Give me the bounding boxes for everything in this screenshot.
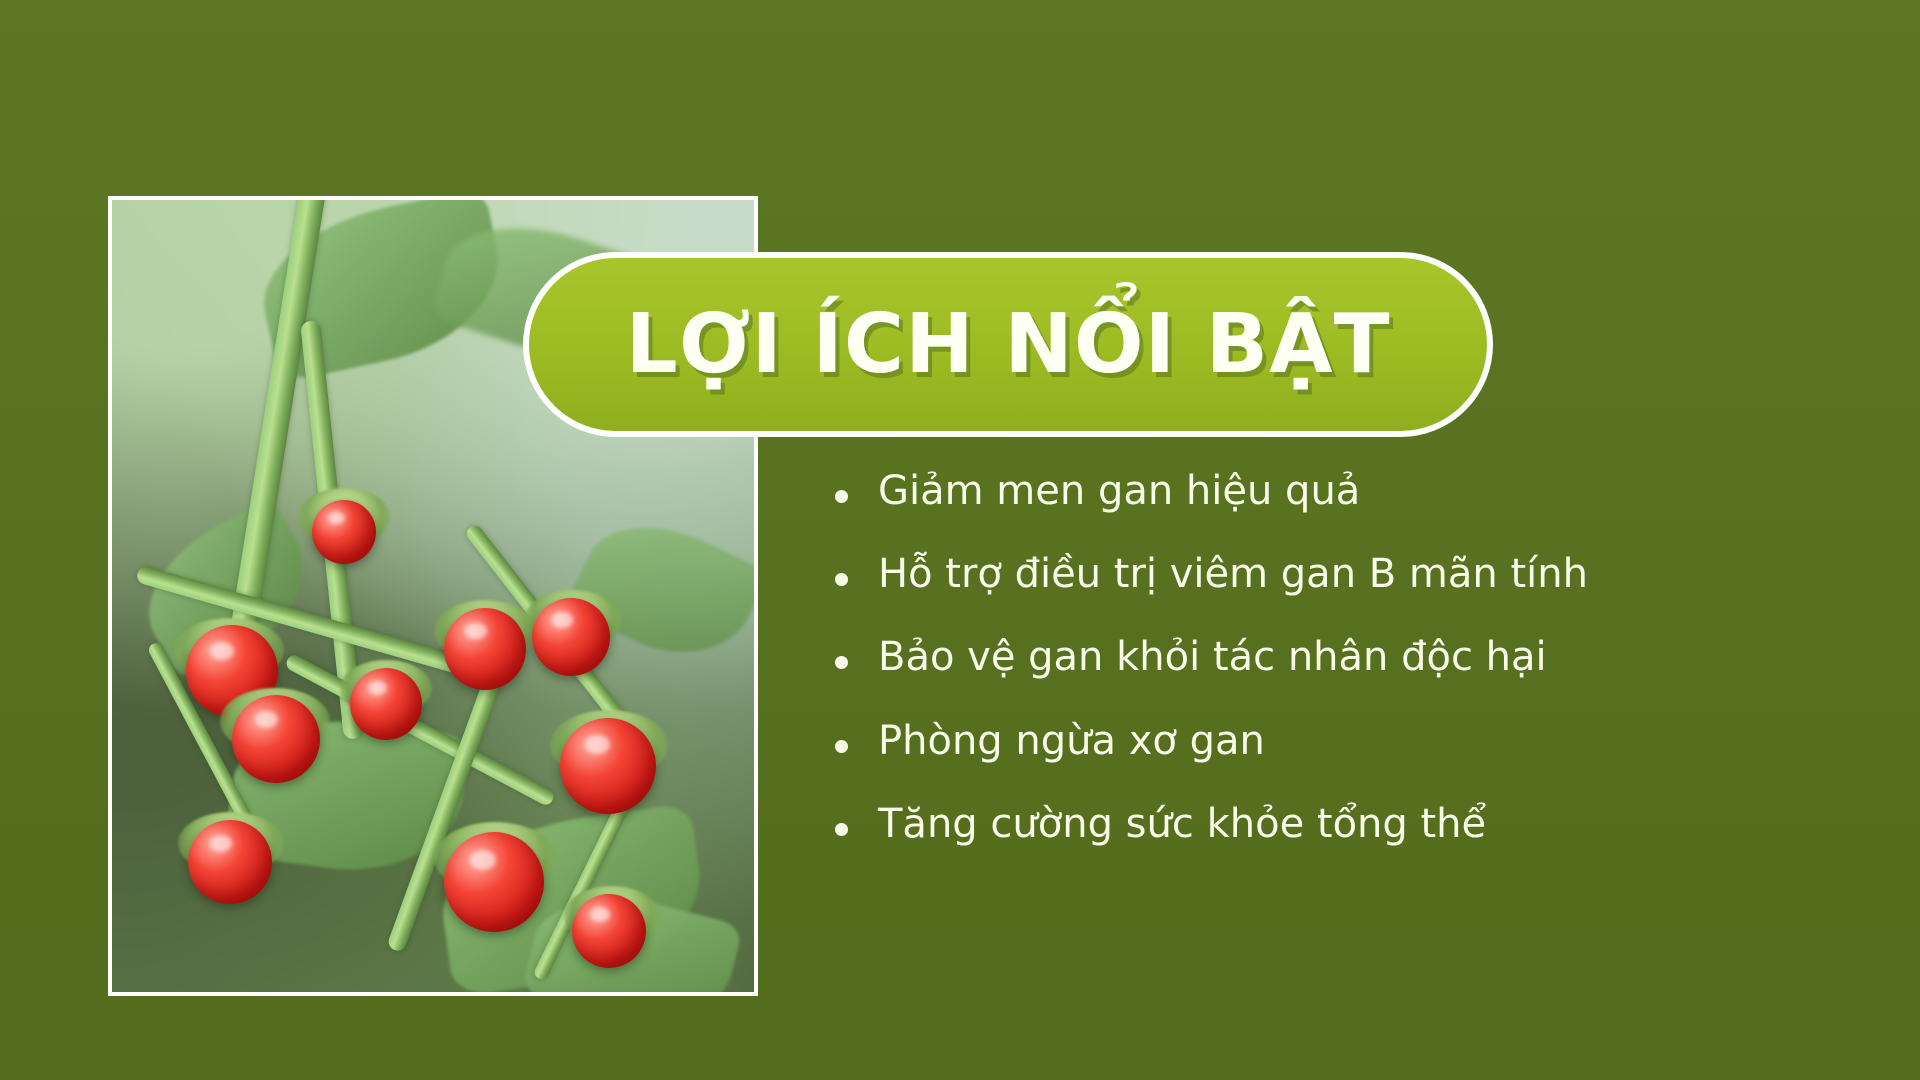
berry-icon [188, 820, 272, 904]
berry-icon [560, 718, 656, 814]
berry-icon [444, 832, 544, 932]
list-item-label: Hỗ trợ điều trị viêm gan B mãn tính [878, 551, 1588, 598]
berry-icon [312, 500, 376, 564]
berry-icon [350, 668, 422, 740]
list-item: Phòng ngừa xơ gan [835, 718, 1875, 765]
list-item: Bảo vệ gan khỏi tác nhân độc hại [835, 634, 1875, 681]
section-title-banner: LỢI ÍCH NỔI BẬT [523, 252, 1493, 437]
bullet-dot-icon [835, 740, 848, 753]
berry-icon [232, 695, 320, 783]
berry-icon [444, 608, 526, 690]
list-item: Giảm men gan hiệu quả [835, 468, 1875, 515]
list-item-label: Phòng ngừa xơ gan [878, 718, 1265, 765]
bullet-dot-icon [835, 823, 848, 836]
list-item: Hỗ trợ điều trị viêm gan B mãn tính [835, 551, 1875, 598]
list-item-label: Tăng cường sức khỏe tổng thể [878, 801, 1486, 848]
list-item: Tăng cường sức khỏe tổng thể [835, 801, 1875, 848]
bullet-dot-icon [835, 490, 848, 503]
list-item-label: Bảo vệ gan khỏi tác nhân độc hại [878, 634, 1547, 681]
list-item-label: Giảm men gan hiệu quả [878, 468, 1360, 515]
slide-canvas: LỢI ÍCH NỔI BẬT Giảm men gan hiệu quả Hỗ… [0, 0, 1920, 1080]
benefits-list: Giảm men gan hiệu quả Hỗ trợ điều trị vi… [835, 468, 1875, 884]
berry-icon [572, 894, 646, 968]
page-title: LỢI ÍCH NỔI BẬT [625, 297, 1390, 392]
bullet-dot-icon [835, 656, 848, 669]
berry-icon [532, 598, 610, 676]
bullet-dot-icon [835, 573, 848, 586]
